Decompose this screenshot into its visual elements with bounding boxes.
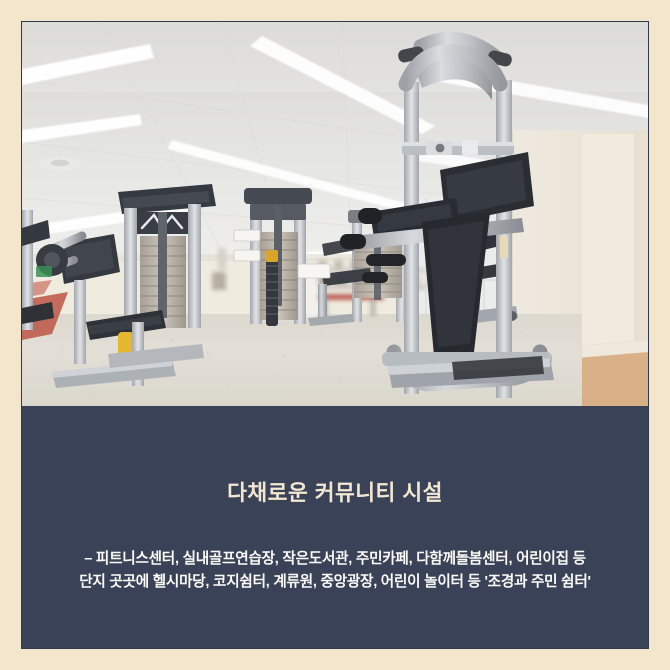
caption-panel: 다채로운 커뮤니티 시설 – 피트니스센터, 실내골프연습장, 작은도서관, 주… bbox=[22, 406, 648, 648]
fitness-center-photo-illustration bbox=[22, 22, 648, 406]
caption-body: – 피트니스센터, 실내골프연습장, 작은도서관, 주민카페, 다함께돌봄센터,… bbox=[36, 548, 634, 595]
fitness-center-photo bbox=[22, 22, 648, 406]
community-facility-card: 다채로운 커뮤니티 시설 – 피트니스센터, 실내골프연습장, 작은도서관, 주… bbox=[21, 21, 649, 649]
caption-title: 다채로운 커뮤니티 시설 bbox=[22, 481, 648, 507]
